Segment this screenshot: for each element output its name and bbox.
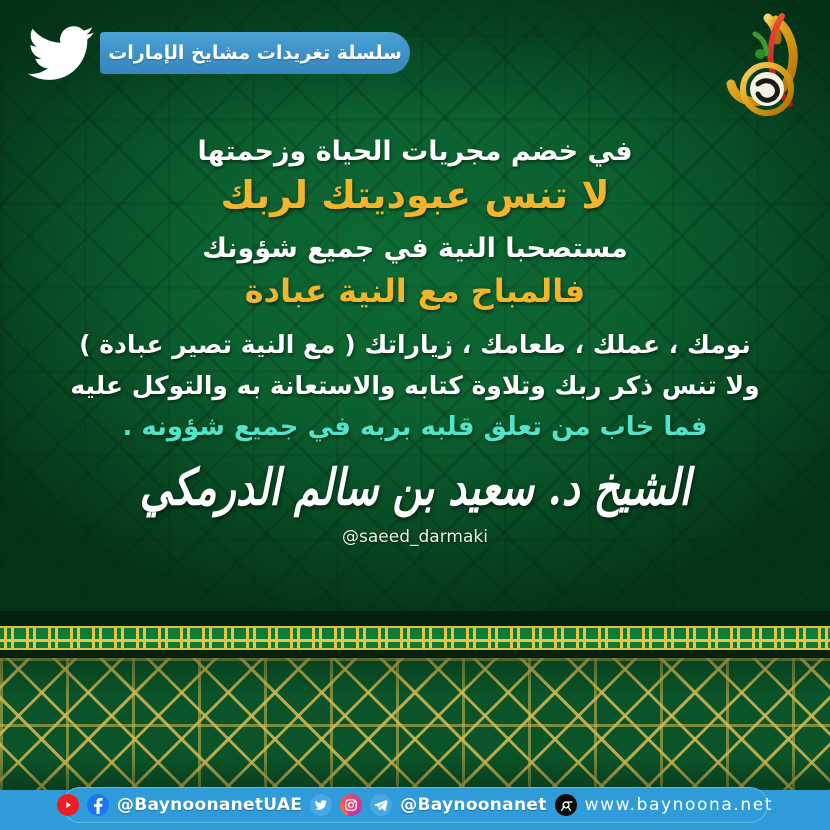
signature-handle: @saeed_darmaki — [0, 527, 830, 547]
ornament-meander-band — [0, 626, 830, 650]
header: سلسلة تغريدات مشايخ الإمارات — [0, 0, 830, 118]
telegram-icon[interactable] — [370, 794, 392, 816]
social-media-graphic: سلسلة تغريدات مشايخ الإمارات — [0, 0, 830, 830]
main-content: في خضم مجريات الحياة وزحمتها لا تنس عبود… — [0, 118, 830, 613]
footer-handle-uae[interactable]: @BaynoonanetUAE — [117, 795, 302, 815]
youtube-icon[interactable] — [57, 794, 79, 816]
instagram-icon[interactable] — [340, 794, 362, 816]
body-line-3: فما خاب من تعلق قلبه بربه في جميع شؤونه … — [0, 412, 830, 442]
signature-name: الشيخ د. سعيد بن سالم الدرمكي — [0, 458, 830, 517]
footer-website[interactable]: www.baynoona.net — [585, 795, 774, 815]
headline-line-4: فالمباح مع النية عبادة — [0, 273, 830, 310]
globe-icon[interactable] — [555, 794, 577, 816]
divider-dark-band — [0, 611, 830, 627]
headline-line-1: في خضم مجريات الحياة وزحمتها — [0, 136, 830, 167]
baynoona-calligraphy-logo — [720, 6, 812, 132]
footer-social-bar: @BaynoonanetUAE @Baynoonanet www — [62, 787, 768, 823]
twitter-bird-icon — [22, 20, 100, 86]
headline-line-3: مستصحبا النية في جميع شؤونك — [0, 233, 830, 264]
ornament-lattice-shade — [0, 658, 830, 793]
headline-line-2: لا تنس عبوديتك لربك — [0, 173, 830, 217]
facebook-icon[interactable] — [87, 794, 109, 816]
twitter-icon[interactable] — [310, 794, 332, 816]
footer-handle-main[interactable]: @Baynoonanet — [400, 795, 546, 815]
signature-block: الشيخ د. سعيد بن سالم الدرمكي @saeed_dar… — [0, 464, 830, 547]
body-line-1: نومك ، عملك ، طعامك ، زياراتك ( مع النية… — [0, 330, 830, 359]
series-banner: سلسلة تغريدات مشايخ الإمارات — [100, 32, 410, 74]
body-line-2: ولا تنس ذكر ربك وتلاوة كتابه والاستعانة … — [0, 371, 830, 400]
